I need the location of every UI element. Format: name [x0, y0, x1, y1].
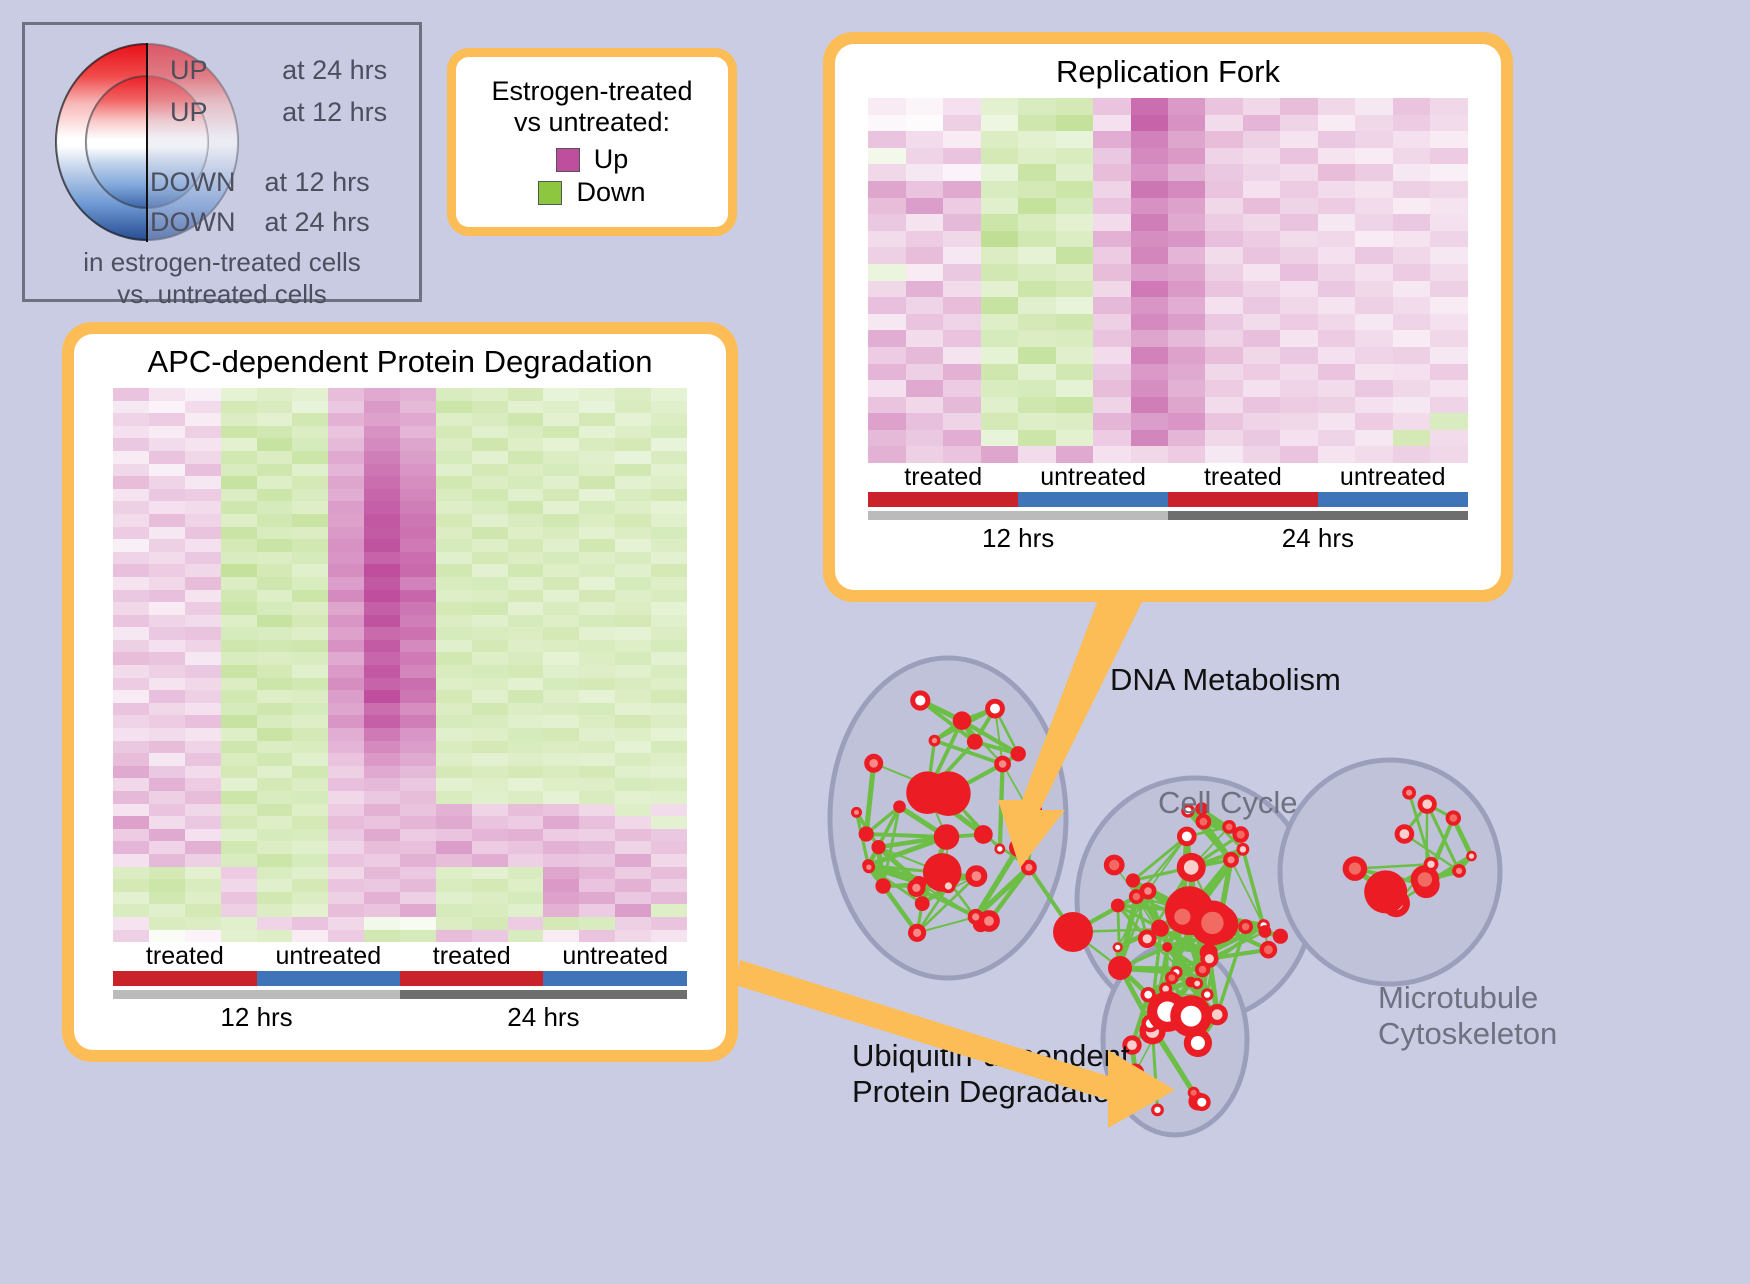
- time-bar-apc: [113, 990, 687, 999]
- key-direction-up-12: UP: [170, 97, 207, 127]
- key-row-up-24: UP at 24 hrs: [170, 55, 387, 86]
- time-bar-segment-24hrs: [1168, 511, 1468, 520]
- estrogen-legend-box: Estrogen-treated vs untreated: Up Down: [447, 48, 737, 236]
- legend-label-up: Up: [594, 144, 629, 175]
- legend-item-down: Down: [538, 177, 645, 208]
- time-labels-apc: 12 hrs 24 hrs: [113, 1002, 687, 1033]
- group-labels-replication-fork: treated untreated treated untreated: [868, 463, 1467, 492]
- key-direction-up-24: UP: [170, 55, 207, 85]
- time-bar-segment-24hrs: [400, 990, 687, 999]
- treatment-bar-segment-untreated-12: [257, 971, 400, 986]
- group-label-2: treated: [400, 942, 543, 971]
- cluster-label-dna-metabolism: DNA Metabolism: [1110, 662, 1341, 698]
- key-time-down-12: at 12 hrs: [265, 167, 370, 197]
- key-time-down-24: at 24 hrs: [265, 207, 370, 237]
- pathway-network: DNA Metabolism Cell Cycle Microtubule Cy…: [790, 610, 1750, 1279]
- time-label-24hrs: 24 hrs: [400, 1002, 687, 1033]
- color-key-note-line2: vs. untreated cells: [25, 279, 419, 311]
- treatment-bar-segment-untreated-24: [543, 971, 686, 986]
- network-svg: [790, 610, 1750, 1279]
- key-row-up-12: UP at 12 hrs: [170, 97, 387, 128]
- heatmap-apc-degradation: [113, 388, 687, 942]
- color-key-box: UP at 24 hrs UP at 12 hrs DOWN at 12 hrs…: [22, 22, 422, 302]
- cluster-label-microtubule: Microtubule Cytoskeleton: [1378, 980, 1557, 1052]
- key-direction-down-24: DOWN: [150, 207, 235, 237]
- color-key-note-line1: in estrogen-treated cells: [25, 247, 419, 279]
- time-bar-segment-12hrs: [113, 990, 400, 999]
- treatment-bar-segment-treated-24: [1168, 492, 1318, 507]
- treatment-bar-segment-treated-12: [868, 492, 1018, 507]
- group-label-0: treated: [868, 463, 1018, 492]
- panel-replication-fork: Replication Fork treated untreated treat…: [823, 32, 1513, 602]
- group-label-0: treated: [113, 942, 256, 971]
- treatment-bar-replication-fork: [868, 492, 1467, 507]
- panel-title-replication-fork: Replication Fork: [1056, 54, 1280, 90]
- swatch-up-icon: [556, 148, 580, 172]
- time-label-24hrs: 24 hrs: [1168, 523, 1468, 554]
- estrogen-legend-title-line2: vs untreated:: [491, 107, 692, 138]
- group-label-3: untreated: [1318, 463, 1468, 492]
- legend-item-up: Up: [556, 144, 629, 175]
- key-row-down-24: DOWN at 24 hrs: [150, 207, 370, 238]
- time-labels-replication-fork: 12 hrs 24 hrs: [868, 523, 1467, 554]
- time-label-12hrs: 12 hrs: [113, 1002, 400, 1033]
- group-label-2: treated: [1168, 463, 1318, 492]
- panel-title-apc: APC-dependent Protein Degradation: [148, 344, 653, 380]
- treatment-bar-segment-treated-24: [400, 971, 543, 986]
- heatmap-replication-fork: [868, 98, 1467, 463]
- key-row-down-12: DOWN at 12 hrs: [150, 167, 370, 198]
- color-key-note: in estrogen-treated cells vs. untreated …: [25, 247, 419, 310]
- time-bar-segment-12hrs: [868, 511, 1168, 520]
- group-label-1: untreated: [1018, 463, 1168, 492]
- panel-apc-degradation: APC-dependent Protein Degradation treate…: [62, 322, 738, 1062]
- group-label-1: untreated: [257, 942, 400, 971]
- time-bar-replication-fork: [868, 511, 1467, 520]
- treatment-bar-apc: [113, 971, 687, 986]
- time-label-12hrs: 12 hrs: [868, 523, 1168, 554]
- group-labels-apc: treated untreated treated untreated: [113, 942, 687, 971]
- ring-divider: [146, 43, 148, 242]
- key-time-up-12: at 12 hrs: [282, 97, 387, 127]
- group-label-3: untreated: [543, 942, 686, 971]
- estrogen-legend-title-line1: Estrogen-treated: [491, 76, 692, 107]
- swatch-down-icon: [538, 181, 562, 205]
- treatment-bar-segment-treated-12: [113, 971, 256, 986]
- legend-label-down: Down: [576, 177, 645, 208]
- treatment-bar-segment-untreated-12: [1018, 492, 1168, 507]
- cluster-label-ubiquitin: Ubiquitin-dependent Protein Degradation: [852, 1038, 1130, 1110]
- key-time-up-24: at 24 hrs: [282, 55, 387, 85]
- key-direction-down-12: DOWN: [150, 167, 235, 197]
- estrogen-legend-title: Estrogen-treated vs untreated:: [491, 76, 692, 139]
- treatment-bar-segment-untreated-24: [1318, 492, 1468, 507]
- cluster-label-cell-cycle: Cell Cycle: [1158, 785, 1298, 821]
